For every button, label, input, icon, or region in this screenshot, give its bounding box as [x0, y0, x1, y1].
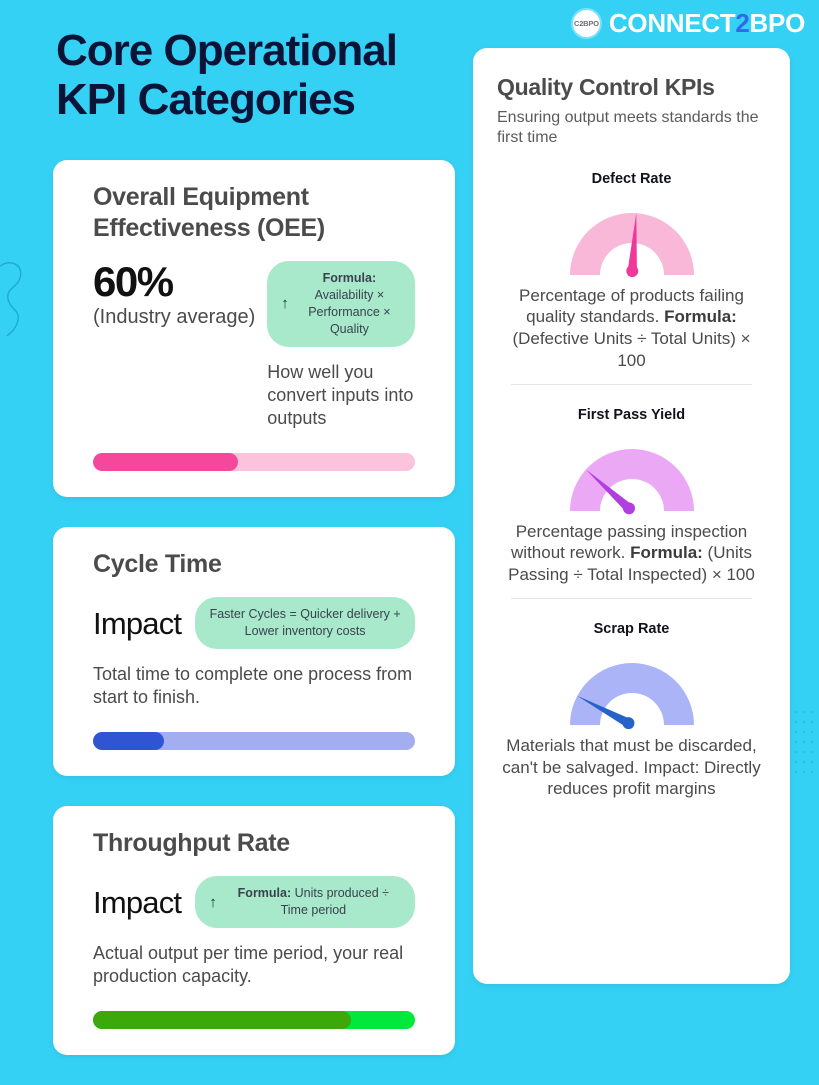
gauge-desc-line2: (Defective Units ÷ Total Units) × 100	[512, 329, 750, 370]
gauge-arc	[570, 449, 694, 511]
card-title: Overall Equipment Effectiveness (OEE)	[93, 182, 415, 243]
gauge-desc-label: Formula:	[664, 307, 737, 326]
card-title: Cycle Time	[93, 549, 415, 580]
impact-label: Impact	[93, 887, 181, 918]
progress-bar-oee	[93, 453, 415, 471]
section-divider	[511, 384, 752, 385]
arrow-up-icon: ↑	[281, 296, 289, 311]
progress-bar-fill	[93, 732, 164, 750]
progress-bar-fill	[93, 453, 238, 471]
gauge-title: Scrap Rate	[497, 621, 766, 637]
quality-control-panel: Quality Control KPIs Ensuring output mee…	[473, 48, 790, 984]
gauge-description: Percentage passing inspection without re…	[497, 521, 766, 586]
section-divider	[511, 598, 752, 599]
metric-block: 60% (Industry average)	[93, 261, 255, 329]
kpi-card-oee: Overall Equipment Effectiveness (OEE) 60…	[53, 160, 455, 497]
gauge-description: Materials that must be discarded, can't …	[497, 735, 766, 800]
impact-pill: Faster Cycles = Quicker delivery + Lower…	[195, 597, 415, 649]
left-column: Overall Equipment Effectiveness (OEE) 60…	[53, 160, 455, 1085]
logo-badge-text: C2BPO	[574, 19, 599, 28]
brand-name-accent: 2	[735, 8, 749, 38]
gauge-description: Percentage of products failing quality s…	[497, 285, 766, 372]
formula-label: Formula:	[323, 271, 376, 285]
gauge-block-scrap-rate: Scrap Rate Materials that must be discar…	[497, 621, 766, 800]
formula-label: Formula:	[238, 886, 291, 900]
gauge-arc	[570, 663, 694, 725]
kpi-card-cycle-time: Cycle Time Impact Faster Cycles = Quicke…	[53, 527, 455, 776]
progress-bar-fill	[93, 1011, 351, 1029]
panel-title: Quality Control KPIs	[497, 74, 766, 102]
formula-pill-text: Formula: Availability × Performance × Qu…	[298, 270, 401, 338]
kpi-card-throughput-rate: Throughput Rate Impact ↑ Formula: Units …	[53, 806, 455, 1055]
metric-sublabel: (Industry average)	[93, 306, 255, 329]
formula-pill: ↑ Formula: Units produced ÷ Time period	[195, 876, 415, 928]
formula-pill-text: Formula: Units produced ÷ Time period	[226, 885, 401, 919]
gauge-defect-rate-icon	[558, 201, 706, 279]
gauge-title: Defect Rate	[497, 171, 766, 187]
gauge-title: First Pass Yield	[497, 407, 766, 423]
formula-pill: ↑ Formula: Availability × Performance × …	[267, 261, 415, 347]
card-description: How well you convert inputs into outputs	[267, 361, 415, 431]
formula-body: Availability × Performance × Quality	[308, 288, 390, 336]
gauge-desc-label: Impact:	[644, 758, 700, 777]
gauge-first-pass-yield-icon	[558, 437, 706, 515]
brand-name-part2: BPO	[750, 8, 805, 38]
dot-grid-decoration	[793, 706, 819, 776]
card-description: Total time to complete one process from …	[93, 663, 415, 710]
formula-body: Units produced ÷ Time period	[281, 886, 389, 917]
brand-name: CONNECT2BPO	[609, 8, 805, 39]
brand-name-part1: CONNECT	[609, 8, 735, 38]
card-description: Actual output per time period, your real…	[93, 942, 415, 989]
gauge-scrap-rate-icon	[558, 651, 706, 729]
card-title: Throughput Rate	[93, 828, 415, 859]
impact-pill-text: Faster Cycles = Quicker delivery + Lower…	[209, 606, 401, 640]
brand-logo: C2BPO CONNECT2BPO	[573, 8, 805, 39]
logo-badge-icon: C2BPO	[573, 10, 600, 37]
metric-value: 60%	[93, 261, 255, 303]
squiggle-decoration	[0, 252, 32, 338]
page-title: Core Operational KPI Categories	[56, 26, 476, 125]
gauge-desc-label: Formula:	[630, 543, 703, 562]
impact-label: Impact	[93, 608, 181, 639]
gauge-block-defect-rate: Defect Rate Percentage of products faili…	[497, 171, 766, 372]
progress-bar-cycle-time	[93, 732, 415, 750]
arrow-up-icon: ↑	[209, 895, 217, 910]
gauge-block-first-pass-yield: First Pass Yield Percentage passing insp…	[497, 407, 766, 586]
panel-subtitle: Ensuring output meets standards the firs…	[497, 108, 766, 149]
progress-bar-throughput	[93, 1011, 415, 1029]
